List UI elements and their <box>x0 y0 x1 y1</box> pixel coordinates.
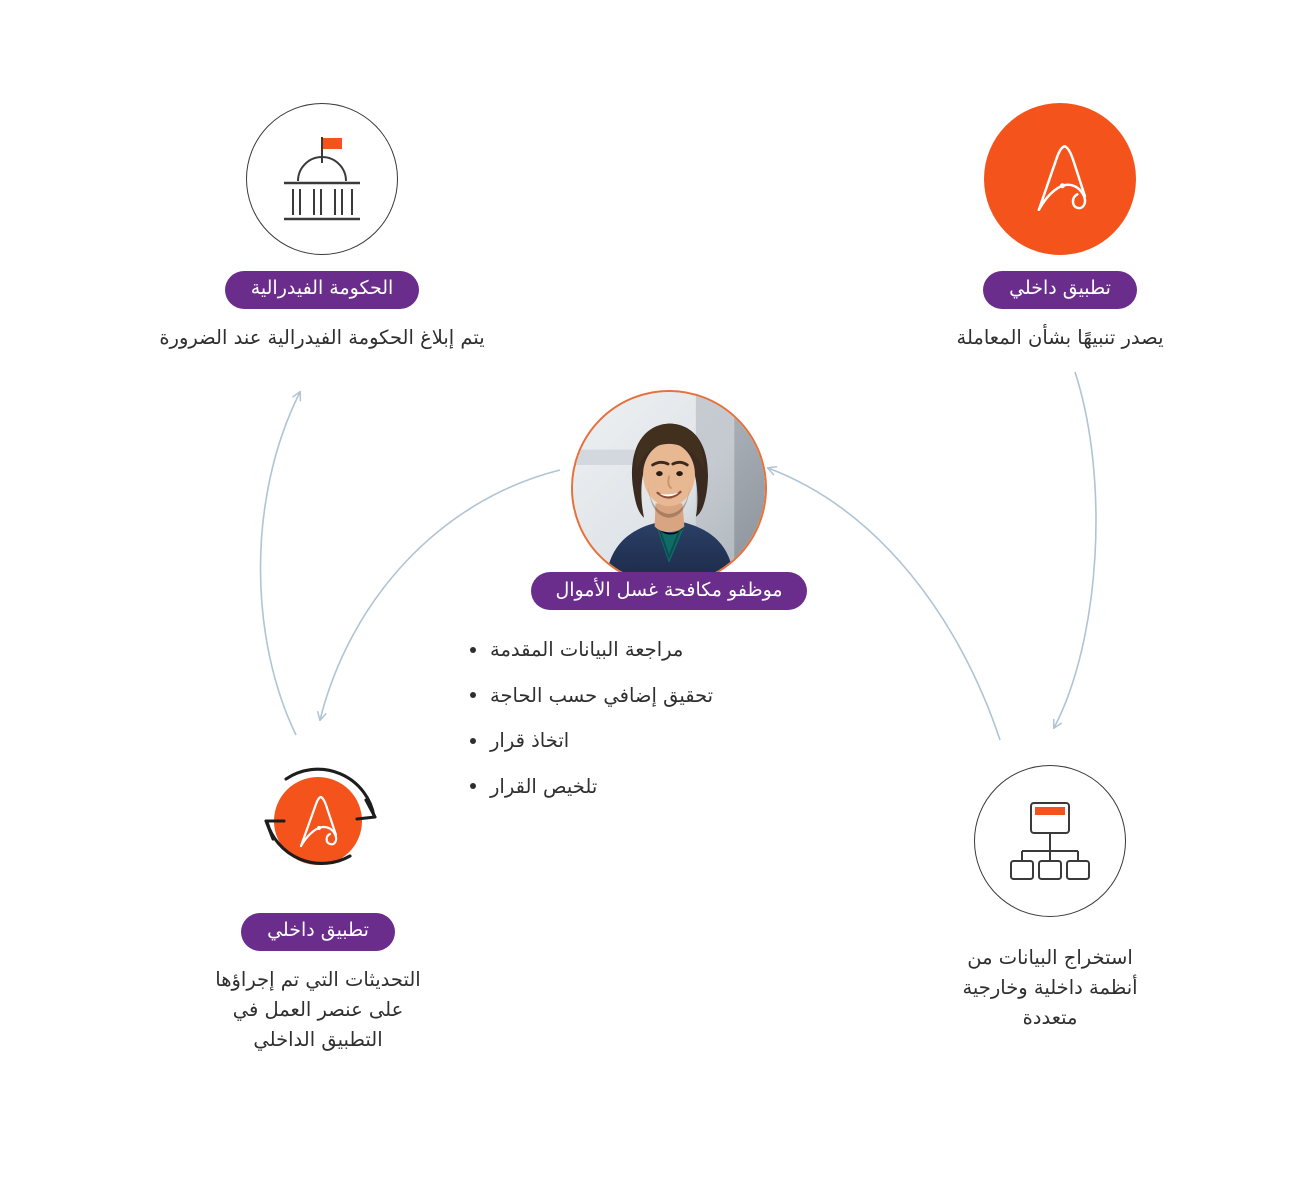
hierarchy-data-icon-circle <box>974 765 1126 917</box>
caption-internal-app-top: يصدر تنبيهًا بشأن المعاملة <box>956 323 1163 353</box>
caption-data-extraction: استخراج البيانات من أنظمة داخلية وخارجية… <box>962 943 1137 1034</box>
appian-logo-cycle-icon-circle <box>242 745 394 897</box>
diagram-canvas: الحكومة الفيدرالية يتم إبلاغ الحكومة الف… <box>0 0 1300 1200</box>
task-label: تحقيق إضافي حسب الحاجة <box>490 686 713 706</box>
analyst-task-list: مراجعة البيانات المقدمة تحقيق إضافي حسب … <box>470 640 830 822</box>
node-aml-analyst[interactable]: موظفو مكافحة غسل الأموال <box>524 390 814 610</box>
task-label: تلخيص القرار <box>490 777 597 797</box>
task-item: مراجعة البيانات المقدمة <box>470 640 830 660</box>
badge-internal-app-top: تطبيق داخلي <box>983 271 1137 309</box>
hierarchy-data-icon <box>1000 795 1100 887</box>
bullet-icon <box>470 647 476 653</box>
node-data-extraction[interactable]: استخراج البيانات من أنظمة داخلية وخارجية… <box>880 765 1220 1034</box>
caption-federal-government: يتم إبلاغ الحكومة الفيدرالية عند الضرورة <box>159 323 484 353</box>
node-internal-app-top[interactable]: تطبيق داخلي يصدر تنبيهًا بشأن المعاملة <box>880 103 1240 353</box>
task-item: تحقيق إضافي حسب الحاجة <box>470 686 830 706</box>
arrow-app-top-to-extract <box>1054 372 1096 728</box>
analyst-photo-avatar <box>573 392 765 584</box>
appian-logo-icon <box>1012 131 1108 227</box>
government-building-icon-circle <box>246 103 398 255</box>
avatar <box>571 390 767 586</box>
bullet-icon <box>470 738 476 744</box>
arrow-app-bottom-to-federal <box>261 392 301 735</box>
node-internal-app-bottom[interactable]: تطبيق داخلي التحديثات التي تم إجراؤها عل… <box>148 745 488 1056</box>
task-label: اتخاذ قرار <box>490 731 569 751</box>
node-federal-government[interactable]: الحكومة الفيدرالية يتم إبلاغ الحكومة الف… <box>142 103 502 353</box>
badge-aml-analyst: موظفو مكافحة غسل الأموال <box>531 572 806 610</box>
bullet-icon <box>470 692 476 698</box>
badge-internal-app-bottom: تطبيق داخلي <box>241 913 395 951</box>
badge-federal-government: الحكومة الفيدرالية <box>225 271 420 309</box>
government-building-icon <box>272 131 372 227</box>
task-item: تلخيص القرار <box>470 777 830 797</box>
appian-logo-cycle-icon <box>243 746 393 896</box>
task-label: مراجعة البيانات المقدمة <box>490 640 683 660</box>
task-item: اتخاذ قرار <box>470 731 830 751</box>
appian-logo-icon-circle <box>984 103 1136 255</box>
caption-internal-app-bottom: التحديثات التي تم إجراؤها على عنصر العمل… <box>215 965 420 1056</box>
